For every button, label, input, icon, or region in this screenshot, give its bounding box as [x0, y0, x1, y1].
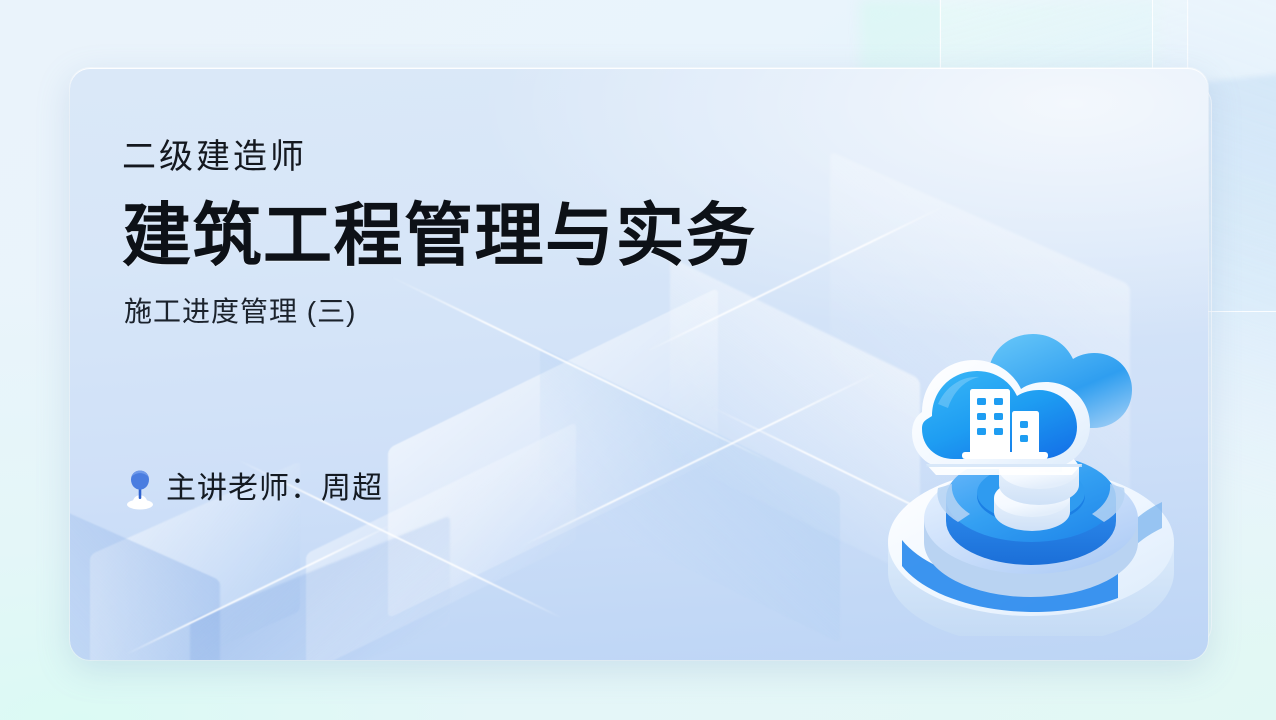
headline-block: 二级建造师 建筑工程管理与实务 施工进度管理 (三) [122, 140, 902, 326]
slide-stage: 二级建造师 建筑工程管理与实务 施工进度管理 (三) 主讲老师：周超 [0, 0, 1276, 720]
iso-tile [388, 288, 718, 619]
cloud-building-3d-illustration [866, 276, 1196, 636]
person-avatar-icon [126, 468, 154, 510]
iso-edge-line [125, 522, 395, 655]
course-category-label: 二级建造师 [122, 140, 902, 174]
lesson-subtitle: 施工进度管理 (三) [124, 298, 902, 326]
iso-tile [306, 422, 576, 660]
iso-edge-line [520, 370, 880, 547]
page-title: 建筑工程管理与实务 [122, 200, 902, 272]
teacher-name-label: 主讲老师：周超 [166, 474, 383, 504]
iso-tile [70, 496, 220, 660]
iso-tile [190, 515, 450, 660]
iso-tile [540, 347, 840, 643]
teacher-row: 主讲老师：周超 [126, 468, 383, 510]
title-card: 二级建造师 建筑工程管理与实务 施工进度管理 (三) 主讲老师：周超 [70, 68, 1208, 660]
